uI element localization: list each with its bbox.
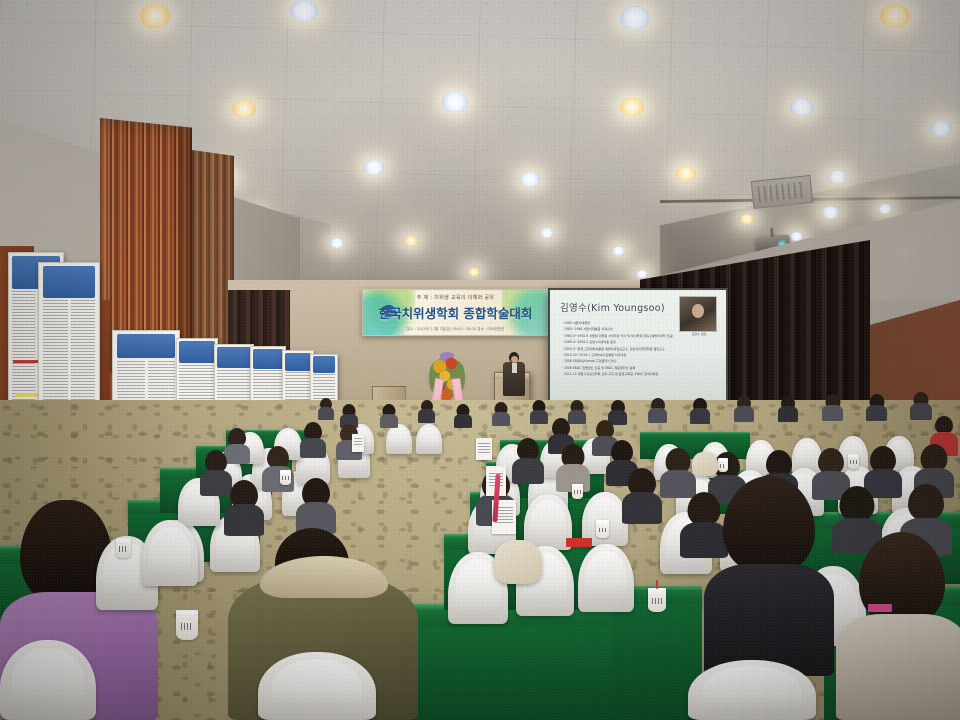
ceiling-downlight-icon — [676, 166, 696, 181]
paper-cup — [572, 484, 583, 499]
attendee-body — [778, 406, 798, 422]
attendee-body — [734, 406, 754, 422]
ceiling-downlight-icon — [442, 92, 468, 112]
paper-cup — [176, 610, 198, 640]
poster-header — [117, 334, 175, 358]
attendee-body — [704, 564, 834, 676]
cup-print-icon — [599, 528, 606, 533]
attendee — [866, 394, 887, 421]
attendee-body — [418, 409, 435, 423]
projection-screen: 김영수(Kim Youngsoo) 김영수 원장 1983 서울치대졸업 198… — [548, 288, 728, 402]
conference-banner: 주 제 : 치위생 교육의 이해와 공유 한국치위생학회 종합학술대회 일시 :… — [362, 289, 549, 336]
attendee — [910, 392, 932, 420]
ceiling-downlight-icon — [828, 170, 847, 184]
attendee — [778, 396, 798, 422]
ceiling-downlight-icon — [330, 238, 344, 248]
ceiling-downlight-icon — [468, 268, 480, 276]
presenter-face — [511, 356, 518, 363]
banquet-chair — [258, 652, 376, 720]
attendee-body — [690, 408, 710, 424]
conference-hall-photo: 주 제 : 치위생 교육의 이해와 공유 한국치위생학회 종합학술대회 일시 :… — [0, 0, 960, 720]
red-handout-box — [566, 538, 592, 547]
attendee-head — [840, 486, 875, 522]
cup-print-icon — [119, 546, 127, 551]
ceiling-downlight-icon — [364, 160, 384, 175]
tote-bag — [692, 452, 718, 476]
banquet-chair — [578, 544, 634, 612]
attendee — [262, 446, 294, 492]
attendee-head — [723, 476, 815, 572]
banner-footer: 일시 : 2014년 11월 7일(금) 09:00~18:00 장소 : 00… — [363, 327, 548, 332]
poster-highlight — [15, 393, 40, 397]
slide-title: 김영수(Kim Youngsoo) — [560, 300, 665, 314]
ceiling-downlight-icon — [822, 206, 839, 219]
poster-header — [285, 353, 311, 372]
attendee-body — [300, 438, 326, 458]
attendee-foreground-far-right — [836, 532, 960, 720]
attendee — [734, 396, 754, 422]
hood-fur-trim — [260, 556, 388, 598]
presenter — [503, 352, 525, 396]
attendee-body — [512, 458, 544, 484]
attendee — [822, 394, 843, 421]
tote-bag — [494, 540, 542, 584]
ceiling-downlight-icon — [140, 4, 170, 28]
banquet-chair — [386, 424, 412, 454]
banquet-chair — [416, 424, 442, 454]
cup-print-icon — [850, 460, 856, 464]
poster-header — [313, 356, 336, 373]
attendee-body — [454, 414, 472, 428]
banner-main-title: 한국치위생학회 종합학술대회 — [363, 303, 548, 322]
attendee — [318, 398, 334, 420]
paper-cup — [648, 588, 666, 612]
banquet-chair — [142, 520, 198, 586]
cup-print-icon — [720, 464, 726, 468]
ceiling-downlight-icon — [620, 98, 644, 116]
ceiling-downlight-icon — [404, 236, 418, 246]
attendee-head — [908, 484, 944, 521]
poster-header — [179, 341, 214, 363]
attendee-body — [866, 405, 887, 421]
attendee-body — [622, 492, 662, 524]
banquet-table-skirt — [404, 626, 634, 720]
ceiling-downlight-icon — [232, 100, 256, 118]
banner-subtitle: 주 제 : 치위생 교육의 이해와 공유 — [363, 294, 548, 301]
ceiling-downlight-icon — [790, 232, 803, 241]
cup-print-icon — [282, 476, 288, 480]
banquet-chair — [688, 660, 816, 720]
attendee-body — [318, 407, 334, 420]
ceiling-downlight-icon — [612, 246, 625, 256]
presenter-shirt — [512, 363, 517, 373]
slide-cv-list: 1983 서울치대졸업 1983~1986 서울치대병원 치과수련 1983.3… — [562, 320, 690, 378]
paper-cup — [596, 520, 609, 538]
attendee — [512, 438, 544, 484]
paper-cup — [718, 458, 728, 472]
attendee — [296, 478, 336, 534]
attendee — [690, 398, 710, 424]
paper-cup — [280, 470, 291, 485]
ceiling-downlight-icon — [880, 4, 910, 28]
poster-header — [217, 347, 250, 368]
paper-cup — [116, 538, 131, 558]
attendee — [648, 398, 667, 423]
ceiling-downlight-icon — [740, 214, 754, 224]
ceiling-downlight-icon — [620, 6, 650, 30]
slide-cv-line: 2011.12 대한구강보건학회 산하 구취 및 침연구회장, EBAC 한국지… — [562, 371, 690, 377]
attendee — [418, 400, 435, 423]
attendee-body — [492, 412, 510, 426]
attendee-body — [380, 414, 398, 428]
attendee-body — [836, 614, 960, 720]
ceiling-downlight-icon — [290, 0, 318, 22]
poster-header — [253, 349, 283, 369]
attendee-body — [530, 410, 548, 424]
attendee-body — [822, 405, 843, 421]
ceiling-downlight-icon — [790, 98, 814, 116]
attendee — [660, 448, 696, 498]
attendee-body — [910, 403, 932, 420]
ceiling-downlight-icon — [540, 228, 554, 238]
ceiling-downlight-icon — [520, 172, 540, 187]
attendee-body — [648, 408, 667, 423]
attendee — [300, 422, 326, 458]
cup-print-icon — [181, 623, 193, 631]
cup-print-icon — [574, 490, 580, 494]
cup-print-icon — [652, 598, 662, 604]
attendee — [380, 404, 398, 428]
ceiling-downlight-icon — [878, 204, 892, 214]
attendee — [530, 400, 548, 424]
ceiling-downlight-icon — [930, 120, 952, 137]
pink-item — [868, 604, 892, 612]
attendee — [492, 402, 510, 426]
ceiling-downlight-icon — [636, 270, 648, 278]
attendee — [454, 404, 472, 428]
drink-stirrer — [656, 580, 658, 589]
handout-sheet — [352, 434, 364, 452]
paper-cup — [848, 454, 859, 469]
poster-header — [43, 266, 96, 298]
parka-hood-fur — [260, 548, 388, 598]
attendee-foreground-right — [704, 476, 834, 676]
attendee — [622, 468, 662, 524]
handout-sheet — [476, 438, 492, 460]
